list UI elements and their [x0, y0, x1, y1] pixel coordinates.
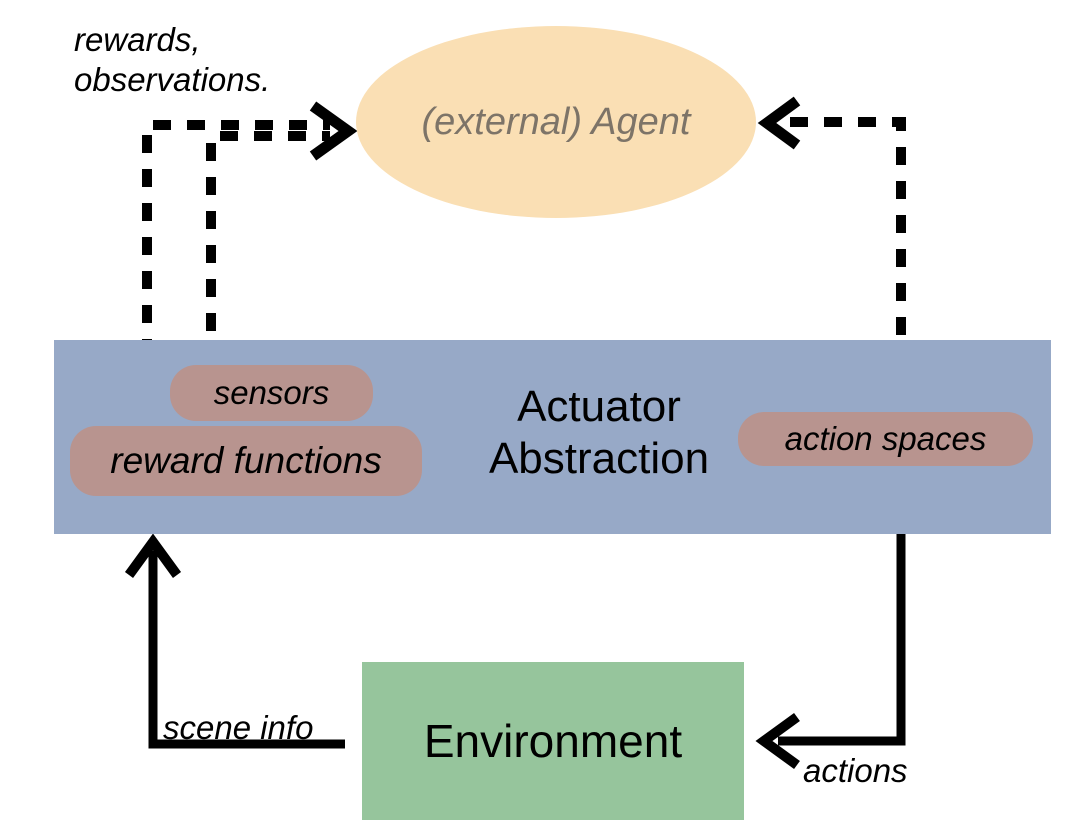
environment-label: Environment	[424, 714, 682, 768]
actuator-abstraction-title-line2: Abstraction	[474, 433, 724, 485]
edge-label-actions: actions	[803, 751, 908, 791]
actuator-abstraction-title-line1: Actuator	[474, 381, 724, 433]
edge-sensors-to-agent	[211, 136, 330, 365]
arrowhead-actions-into-environment	[764, 717, 797, 765]
agent-node[interactable]: (external) Agent	[356, 26, 756, 218]
agent-label: (external) Agent	[422, 101, 691, 144]
edge-label-observations-line: observations.	[74, 60, 270, 100]
edge-label-rewards-line: rewards,	[74, 20, 270, 60]
environment-node[interactable]: Environment	[362, 662, 744, 820]
edge-label-rewards-observations: rewards, observations.	[74, 20, 270, 101]
component-sensors[interactable]: sensors	[170, 365, 373, 421]
component-reward-functions-label: reward functions	[110, 440, 381, 482]
actuator-abstraction-title: Actuator Abstraction	[474, 381, 724, 485]
component-reward-functions[interactable]: reward functions	[70, 426, 422, 496]
arrowhead-scene-info-into-abstraction	[129, 542, 177, 575]
diagram-canvas: rewards, observations. (external) Agent …	[0, 0, 1091, 836]
component-action-spaces[interactable]: action spaces	[738, 412, 1033, 466]
arrowhead-into-agent-left	[313, 106, 348, 156]
edge-label-scene-info: scene info	[163, 708, 313, 748]
component-sensors-label: sensors	[214, 374, 330, 412]
component-action-spaces-label: action spaces	[785, 420, 987, 458]
arrowhead-into-agent-right	[767, 101, 797, 145]
